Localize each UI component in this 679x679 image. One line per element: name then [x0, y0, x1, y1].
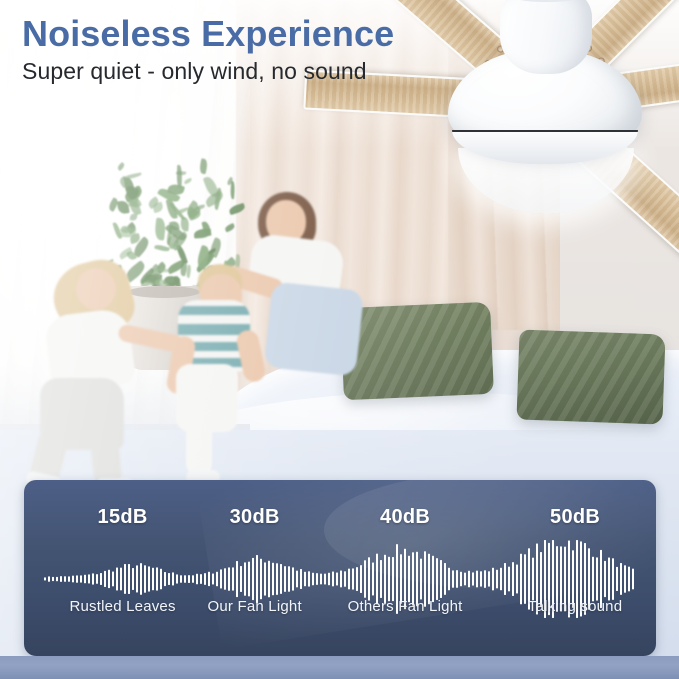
source-caption-2: Others Fan Light: [348, 598, 463, 615]
plant-leaf: [230, 182, 236, 200]
product-marketing-image: Noiseless Experience Super quiet - only …: [0, 0, 679, 679]
shirt-stripe: [178, 306, 250, 315]
source-caption-0: Rustled Leaves: [69, 598, 175, 615]
woman-jeans: [264, 281, 364, 376]
girl-head: [76, 268, 116, 310]
db-label-row: 15dB30dB40dB50dB: [24, 506, 656, 532]
plant-leaf: [117, 201, 130, 215]
source-caption-3: Talking sound: [528, 598, 622, 615]
plant-leaf: [117, 162, 126, 171]
noise-comparison-panel: 15dB30dB40dB50dB Rustled LeavesOur Fan L…: [24, 480, 656, 656]
page-title: Noiseless Experience: [22, 13, 394, 55]
bottom-strip: [0, 656, 679, 679]
fan-downrod-cover: [500, 0, 592, 74]
green-pillow-left: [340, 302, 494, 400]
plant-leaf: [180, 217, 189, 231]
plant-leaf: [183, 178, 192, 185]
plant-leaf: [154, 217, 167, 240]
caption-row: Rustled LeavesOur Fan LightOthers Fan Li…: [24, 598, 656, 622]
boy-leg: [186, 420, 212, 474]
db-value-3: 50dB: [550, 506, 600, 529]
plant-leaf: [123, 173, 142, 181]
page-subtitle: Super quiet - only wind, no sound: [22, 58, 367, 85]
db-value-0: 15dB: [98, 506, 148, 529]
source-caption-1: Our Fan Light: [208, 598, 302, 615]
plant-leaf: [225, 223, 236, 232]
db-value-2: 40dB: [380, 506, 430, 529]
plant-leaf: [199, 158, 209, 174]
plant-leaf: [154, 244, 170, 253]
green-pillow-right: [516, 329, 665, 424]
fan-canopy: [476, 0, 618, 2]
db-value-1: 30dB: [230, 506, 280, 529]
plant-leaf: [176, 165, 182, 188]
